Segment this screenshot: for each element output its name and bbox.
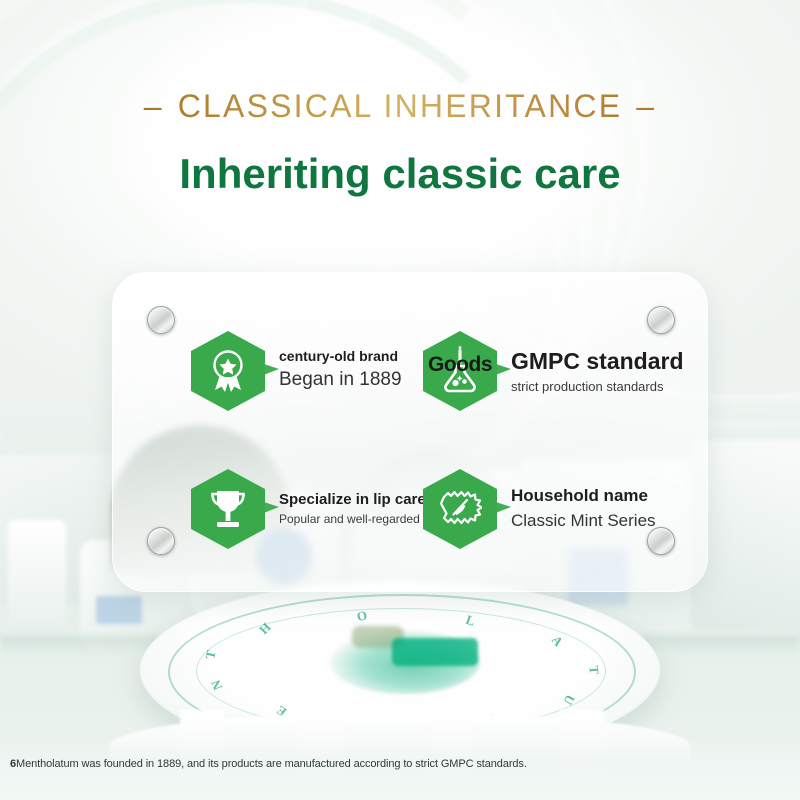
feature-icon-wrap [191,469,269,549]
footnote: 6Mentholatum was founded in 1889, and it… [10,758,527,770]
feature-item[interactable]: Specialize in lip care Popular and well-… [191,469,458,549]
feature-list: century-old brand Began in 1889 [113,273,707,591]
page-title: Inheriting classic care [0,150,800,198]
feature-subtitle: strict production standards [511,377,684,397]
kicker-dash-left: – [130,88,178,124]
feature-title: Household name [511,485,656,508]
feature-subtitle: Classic Mint Series [511,508,656,534]
feature-item[interactable]: century-old brand Began in 1889 [191,331,402,411]
feature-subtitle: Began in 1889 [279,366,402,395]
kicker-dash-right: – [622,88,670,124]
feature-icon-wrap: Goods [423,331,501,411]
feature-item[interactable]: Household name Classic Mint Series [423,469,656,549]
poster-canvas: MENTHOLATUM –CLASSICAL INHERITANCE– Inhe… [0,0,800,800]
feature-item[interactable]: Goods GMPC standard strict production st… [423,331,684,411]
icon-overlay-label: Goods [417,353,503,377]
feature-icon-wrap [191,331,269,411]
feature-icon-wrap [423,469,501,549]
kicker-heading: –CLASSICAL INHERITANCE– [0,88,800,125]
award-ribbon-icon [191,331,265,411]
mint-leaf-icon [423,469,497,549]
footnote-text: Mentholatum was founded in 1889, and its… [16,758,527,770]
feature-text: Household name Classic Mint Series [511,485,656,533]
trophy-icon [191,469,265,549]
feature-title: GMPC standard [511,346,684,377]
feature-title: century-old brand [279,347,402,366]
feature-text: century-old brand Began in 1889 [279,347,402,394]
feature-text: GMPC standard strict production standard… [511,346,684,397]
kicker-text: CLASSICAL INHERITANCE [178,88,623,124]
glass-panel: century-old brand Began in 1889 [112,272,708,592]
disc-emblem [392,638,478,666]
